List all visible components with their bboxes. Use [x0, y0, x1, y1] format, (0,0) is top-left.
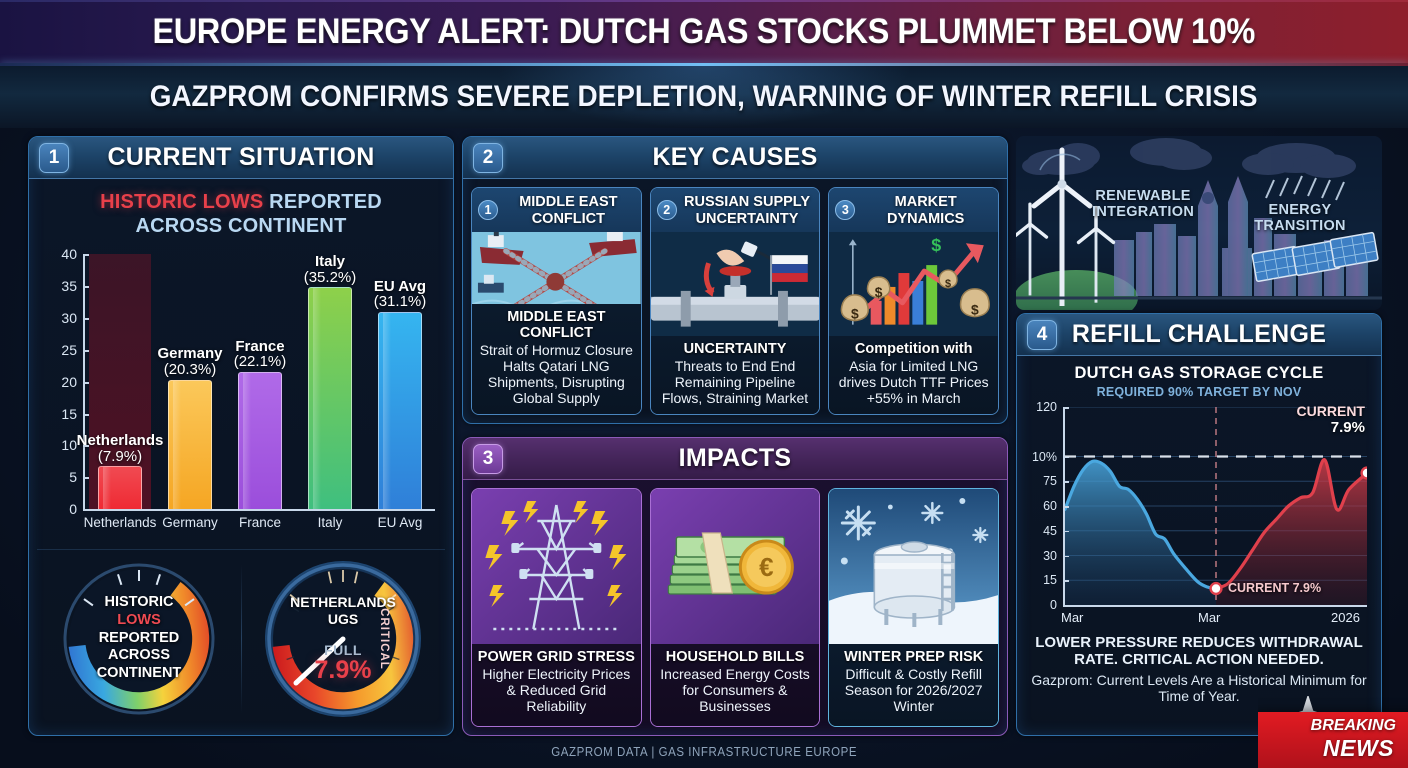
cause-card-2[interactable]: 2RUSSIAN SUPPLY UNCERTAINTYUNCERTAINTYTh… [650, 187, 821, 415]
bar-highlight [313, 288, 320, 509]
panel1-subtitle: HISTORIC LOWS REPORTED ACROSS CONTINENT [29, 191, 453, 238]
line-y-tick: 15 [1043, 573, 1057, 587]
panel-refill-challenge: 4 REFILL CHALLENGE DUTCH GAS STORAGE CYC… [1016, 313, 1382, 736]
line-y-tick-mark [1063, 457, 1069, 459]
impact-card-2[interactable]: €HOUSEHOLD BILLSIncreased Energy Costs f… [650, 488, 821, 727]
cause-card-header: 3MARKET DYNAMICS [829, 188, 998, 232]
panel3-title: IMPACTS [679, 444, 792, 473]
cash-stack-euro-coin-icon: € [651, 489, 820, 644]
bar-x-tick: Netherlands [84, 515, 157, 530]
gauge-left-line1: HISTORIC [97, 594, 182, 612]
line-chart-annotation-current-top: CURRENT 7.9% [1297, 403, 1365, 436]
line-y-tick-mark [1063, 506, 1069, 508]
line-y-tick-mark [1063, 556, 1069, 558]
bar-y-tick-mark [83, 477, 89, 479]
bar-italy[interactable]: Italy(35.2%) [308, 287, 351, 509]
bar-y-tick-mark [83, 254, 89, 256]
bar-column: Netherlands(7.9%)Netherlands [85, 254, 155, 509]
gauge-right-value: 7.9% [315, 658, 372, 683]
line-y-tick: 45 [1043, 524, 1057, 538]
bar-y-tick-mark [83, 414, 89, 416]
bar-eu-avg[interactable]: EU Avg(31.1%) [378, 312, 421, 509]
clock-face [1202, 192, 1214, 204]
transition-label-line1: ENERGY [1240, 202, 1360, 218]
line-y-tick-mark [1063, 531, 1069, 533]
cause-card-body: UNCERTAINTYThreats to End End Remaining … [651, 336, 820, 414]
line-y-tick: 60 [1043, 499, 1057, 513]
svg-text:$: $ [875, 284, 883, 300]
gauge-divider [241, 564, 242, 713]
line-y-tick: 30 [1043, 549, 1057, 563]
bar-value-label: Netherlands(7.9%) [77, 433, 164, 465]
cause-card-number: 1 [478, 200, 498, 220]
impact-card-title: HOUSEHOLD BILLS [656, 649, 815, 665]
bar-y-tick: 5 [69, 469, 77, 485]
gauge-cell-right: NETHERLANDS UGS FULL 7.9% CRITICAL [241, 559, 445, 719]
banner-top-edge [0, 0, 1408, 2]
line-y-tick-mark [1063, 605, 1069, 607]
panel-current-situation: 1 CURRENT SITUATION HISTORIC LOWS REPORT… [28, 136, 454, 736]
source-text: GAZPROM DATA | GAS INFRASTRUCTURE EUROPE [551, 745, 857, 759]
gauge-left-label: HISTORIC LOWS REPORTED ACROSS CONTINENT [59, 559, 219, 719]
cause-card-heading: MARKET DYNAMICS [859, 194, 992, 227]
cause-card-desc: Strait of Hormuz Closure Halts Qatari LN… [477, 343, 636, 407]
bar-value-label: Italy(35.2%) [304, 254, 357, 286]
money-bags-rising-chart: $$$$$ [829, 232, 998, 336]
bar-label-name: Germany [157, 346, 222, 362]
line-y-tick: 75 [1043, 474, 1057, 488]
cause-card-header: 2RUSSIAN SUPPLY UNCERTAINTY [651, 188, 820, 232]
bar-y-tick: 10 [61, 437, 77, 453]
bar-column: Germany(20.3%)Germany [155, 254, 225, 509]
pipeline-valve-russian-flag [651, 232, 820, 336]
bar-highlight [103, 467, 110, 509]
gauge-row: HISTORIC LOWS REPORTED ACROSS CONTINENT [37, 549, 445, 727]
pylon-lightning-icon [472, 489, 641, 644]
impact-card-title: WINTER PREP RISK [834, 649, 993, 665]
cause-card-body: MIDDLE EAST CONFLICTStrait of Hormuz Clo… [472, 304, 641, 414]
bar-y-tick: 25 [61, 342, 77, 358]
bar-label-value: (31.1%) [374, 294, 427, 310]
impact-card-1[interactable]: POWER GRID STRESSHigher Electricity Pric… [471, 488, 642, 727]
cause-card-body: Competition withAsia for Limited LNG dri… [829, 336, 998, 414]
bar-highlight [383, 313, 390, 509]
bar-label-name: EU Avg [374, 279, 427, 295]
cause-card-title: UNCERTAINTY [656, 341, 815, 357]
panel1-header: 1 CURRENT SITUATION [29, 137, 453, 179]
bar-value-label: France(22.1%) [234, 339, 287, 371]
line-chart-annotation-current-mid: CURRENT 7.9% [1228, 581, 1321, 595]
cause-card-title: Competition with [834, 341, 993, 357]
energy-transition-label: ENERGY TRANSITION [1240, 202, 1360, 234]
panel4-footer-note: Gazprom: Current Levels Are a Historical… [1027, 673, 1371, 705]
impact-card-body: POWER GRID STRESSHigher Electricity Pric… [472, 644, 641, 726]
impact-card-body: WINTER PREP RISKDifficult & Costly Refil… [829, 644, 998, 726]
bar-label-value: (7.9%) [77, 449, 164, 465]
panel1-number-badge: 1 [39, 143, 69, 173]
cause-card-desc: Asia for Limited LNG drives Dutch TTF Pr… [834, 359, 993, 407]
source-footer: GAZPROM DATA | GAS INFRASTRUCTURE EUROPE [0, 736, 1408, 768]
panel4-footer: LOWER PRESSURE REDUCES WITHDRAWAL RATE. … [1017, 633, 1381, 705]
gauge-cell-left: HISTORIC LOWS REPORTED ACROSS CONTINENT [37, 559, 241, 719]
bar-y-tick-mark [83, 286, 89, 288]
line-y-tick-mark [1063, 407, 1069, 409]
page-title: EUROPE ENERGY ALERT: DUTCH GAS STOCKS PL… [153, 12, 1255, 52]
transition-label-line2: TRANSITION [1240, 218, 1360, 234]
renewable-label-line2: INTEGRATION [1092, 204, 1194, 220]
cause-card-number: 2 [657, 200, 677, 220]
key-causes-card-list: 1MIDDLE EAST CONFLICTMIDDLE EAST CONFLIC… [463, 179, 1007, 423]
cause-card-number: 3 [835, 200, 855, 220]
svg-text:$: $ [971, 302, 979, 318]
impact-card-title: POWER GRID STRESS [477, 649, 636, 665]
headline-banner: EUROPE ENERGY ALERT: DUTCH GAS STOCKS PL… [0, 0, 1408, 63]
panel4-title: REFILL CHALLENGE [1072, 320, 1326, 349]
line-x-tick: Mar [1198, 610, 1220, 625]
line-x-tick: Mar [1061, 610, 1083, 625]
bar-y-tick-mark [83, 318, 89, 320]
cause-card-3[interactable]: 3MARKET DYNAMICS$$$$$Competition withAsi… [828, 187, 999, 415]
dutch-gas-storage-line-chart: CURRENT 7.9% CURRENT 7.9% 12010%75604530… [1023, 403, 1373, 633]
cause-card-heading: MIDDLE EAST CONFLICT [502, 194, 635, 227]
impact-card-body: HOUSEHOLD BILLSIncreased Energy Costs fo… [651, 644, 820, 726]
cause-card-title: MIDDLE EAST CONFLICT [477, 309, 636, 341]
gauge-left-line2: LOWS [97, 612, 182, 630]
renewable-integration-label: RENEWABLE INTEGRATION [1092, 188, 1194, 220]
panel-key-causes: 2 KEY CAUSES 1MIDDLE EAST CONFLICTMIDDLE… [462, 136, 1008, 424]
gauge-historic-lows: HISTORIC LOWS REPORTED ACROSS CONTINENT [59, 559, 219, 719]
bar-label-value: (22.1%) [234, 354, 287, 370]
bar-y-tick: 15 [61, 406, 77, 422]
annotation-current-value: 7.9% [1297, 419, 1365, 436]
gauge-right-label: NETHERLANDS UGS FULL 7.9% [263, 559, 423, 719]
bar-y-tick: 40 [61, 246, 77, 262]
bar-column: Italy(35.2%)Italy [295, 254, 365, 509]
impact-card-desc: Difficult & Costly Refill Season for 202… [834, 667, 993, 715]
bar-x-tick: Germany [162, 515, 218, 530]
bar-chart-bars: Netherlands(7.9%)NetherlandsGermany(20.3… [85, 254, 435, 509]
gauge-netherlands-ugs: NETHERLANDS UGS FULL 7.9% CRITICAL [263, 559, 423, 719]
panel1-subtitle-line2: ACROSS CONTINENT [29, 215, 453, 239]
rain-icon [1266, 176, 1344, 200]
infographic-root: EUROPE ENERGY ALERT: DUTCH GAS STOCKS PL… [0, 0, 1408, 768]
panel-impacts: 3 IMPACTS POWER GRID STRESSHigher Electr… [462, 437, 1008, 736]
bar-value-label: EU Avg(31.1%) [374, 279, 427, 311]
cause-card-desc: Threats to End End Remaining Pipeline Fl… [656, 359, 815, 407]
gauge-left-line4: ACROSS [97, 647, 182, 665]
panel1-title: CURRENT SITUATION [107, 143, 374, 172]
cause-card-1[interactable]: 1MIDDLE EAST CONFLICTMIDDLE EAST CONFLIC… [471, 187, 642, 415]
bar-y-tick: 20 [61, 374, 77, 390]
bar-x-tick: France [239, 515, 281, 530]
bar-netherlands[interactable]: Netherlands(7.9%) [98, 466, 141, 509]
bar-value-label: Germany(20.3%) [157, 346, 222, 378]
panel3-header: 3 IMPACTS [463, 438, 1007, 480]
svg-text:$: $ [932, 235, 942, 255]
bar-x-tick: Italy [318, 515, 343, 530]
bar-column: EU Avg(31.1%)EU Avg [365, 254, 435, 509]
impacts-card-list: POWER GRID STRESSHigher Electricity Pric… [463, 480, 1007, 735]
subheadline-banner: GAZPROM CONFIRMS SEVERE DEPLETION, WARNI… [0, 66, 1408, 128]
bar-label-name: France [234, 339, 287, 355]
tanker-ships-chains [472, 232, 641, 304]
bar-x-tick: EU Avg [378, 515, 423, 530]
bar-label-value: (35.2%) [304, 270, 357, 286]
renewable-energy-illustration: RENEWABLE INTEGRATION ENERGY TRANSITION [1016, 136, 1382, 310]
svg-text:€: € [759, 552, 773, 582]
cause-card-heading: RUSSIAN SUPPLY UNCERTAINTY [681, 194, 814, 227]
panel4-footer-bold: LOWER PRESSURE REDUCES WITHDRAWAL RATE. … [1027, 635, 1371, 669]
cause-card-header: 1MIDDLE EAST CONFLICT [472, 188, 641, 232]
gauge-critical-label: CRITICAL [378, 608, 390, 670]
panel2-header: 2 KEY CAUSES [463, 137, 1007, 179]
snowflake-storage-tank-icon [829, 489, 998, 644]
bar-germany[interactable]: Germany(20.3%) [168, 380, 211, 509]
bar-highlight [173, 381, 180, 509]
bar-y-tick-mark [83, 350, 89, 352]
bar-label-value: (20.3%) [157, 362, 222, 378]
bar-y-tick: 0 [69, 501, 77, 517]
impact-card-3[interactable]: WINTER PREP RISKDifficult & Costly Refil… [828, 488, 999, 727]
line-y-tick: 120 [1036, 400, 1057, 414]
impact-card-desc: Higher Electricity Prices & Reduced Grid… [477, 667, 636, 715]
svg-text:$: $ [945, 278, 951, 290]
impact-card-desc: Increased Energy Costs for Consumers & B… [656, 667, 815, 715]
bar-y-tick-mark [83, 509, 89, 511]
renewable-label-line1: RENEWABLE [1092, 188, 1194, 204]
bar-column: France(22.1%)France [225, 254, 295, 509]
country-storage-bar-chart: Netherlands(7.9%)NetherlandsGermany(20.3… [39, 246, 443, 541]
panel4-header: 4 REFILL CHALLENGE [1017, 314, 1381, 356]
bar-label-name: Netherlands [77, 433, 164, 449]
bar-y-tick-mark [83, 445, 89, 447]
bar-y-tick: 35 [61, 278, 77, 294]
line-chart-plot-area: CURRENT 7.9% CURRENT 7.9% [1063, 407, 1367, 607]
bar-france[interactable]: France(22.1%) [238, 372, 281, 509]
line-y-tick-mark [1063, 481, 1069, 483]
line-y-tick: 0 [1050, 598, 1057, 612]
panel1-subtitle-red: HISTORIC LOWS [100, 191, 263, 213]
gauge-left-line5: CONTINENT [97, 665, 182, 683]
page-subtitle: GAZPROM CONFIRMS SEVERE DEPLETION, WARNI… [150, 80, 1258, 114]
panel3-number-badge: 3 [473, 444, 503, 474]
panel2-title: KEY CAUSES [652, 143, 817, 172]
panel1-subtitle-rest: REPORTED [263, 191, 381, 213]
bar-highlight [243, 373, 250, 509]
svg-text:$: $ [851, 306, 859, 322]
line-chart-title: DUTCH GAS STORAGE CYCLE [1017, 364, 1381, 383]
cloud-icons [1022, 138, 1356, 178]
bar-chart-plot-area: Netherlands(7.9%)NetherlandsGermany(20.3… [83, 254, 435, 511]
line-y-tick: 10% [1032, 450, 1057, 464]
line-chart-svg [1065, 407, 1367, 605]
bar-y-tick: 30 [61, 310, 77, 326]
annotation-current-word: CURRENT [1297, 403, 1365, 419]
line-y-tick-mark [1063, 580, 1069, 582]
bar-label-name: Italy [304, 254, 357, 270]
gauge-left-line3: REPORTED [97, 630, 182, 648]
bar-y-tick-mark [83, 382, 89, 384]
gauge-right-name-line2: UGS [328, 611, 358, 628]
line-chart-subtitle: REQUIRED 90% TARGET BY NOV [1017, 385, 1381, 399]
panel4-number-badge: 4 [1027, 320, 1057, 350]
panel2-number-badge: 2 [473, 143, 503, 173]
line-x-tick: 2026 [1331, 610, 1360, 625]
